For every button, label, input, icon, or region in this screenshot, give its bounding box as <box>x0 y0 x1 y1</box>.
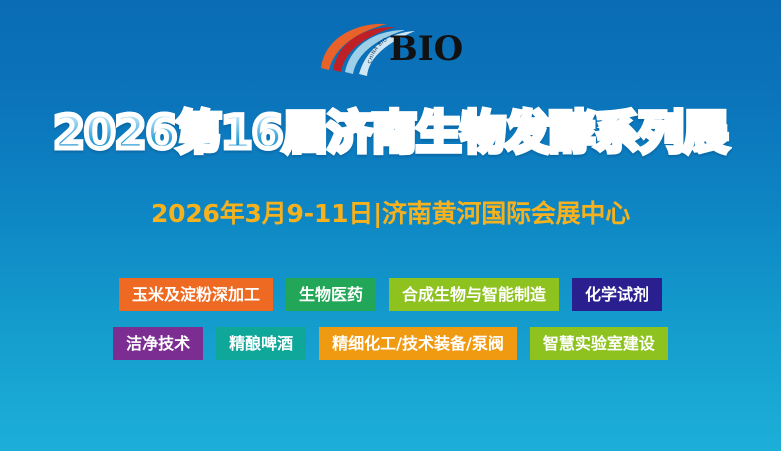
bio-logo: CHINA BIO BIO <box>315 18 467 80</box>
topic-tag-row: 洁净技术 精酿啤酒 精细化工/技术装备/泵阀 智慧实验室建设 <box>0 327 781 360</box>
topic-tag[interactable]: 化学试剂 <box>572 278 662 311</box>
topic-tag-row: 玉米及淀粉深加工 生物医药 合成生物与智能制造 化学试剂 <box>0 278 781 311</box>
topic-tag[interactable]: 合成生物与智能制造 <box>389 278 559 311</box>
bio-logo-graphic: CHINA BIO BIO <box>315 18 467 80</box>
main-title-wrap: 2026第16届济南生物发酵系列展 <box>0 104 781 166</box>
main-title: 2026第16届济南生物发酵系列展 <box>53 104 727 162</box>
subtitle-wrap: 2026年3月9-11日|济南黄河国际会展中心 <box>0 198 781 230</box>
topic-tag[interactable]: 生物医药 <box>286 278 376 311</box>
topic-tag[interactable]: 精细化工/技术装备/泵阀 <box>319 327 517 360</box>
event-date-venue: 2026年3月9-11日|济南黄河国际会展中心 <box>151 198 630 230</box>
bio-wordmark-text: BIO <box>389 29 463 69</box>
exhibition-banner: CHINA BIO BIO 2026第16届济南生物发酵系列展 2026年3月9… <box>0 0 781 451</box>
topic-tag-list: 玉米及淀粉深加工 生物医药 合成生物与智能制造 化学试剂 洁净技术 精酿啤酒 精… <box>0 278 781 376</box>
logo-area: CHINA BIO BIO <box>0 16 781 82</box>
topic-tag[interactable]: 洁净技术 <box>113 327 203 360</box>
topic-tag[interactable]: 玉米及淀粉深加工 <box>119 278 273 311</box>
topic-tag[interactable]: 精酿啤酒 <box>216 327 306 360</box>
topic-tag[interactable]: 智慧实验室建设 <box>530 327 668 360</box>
